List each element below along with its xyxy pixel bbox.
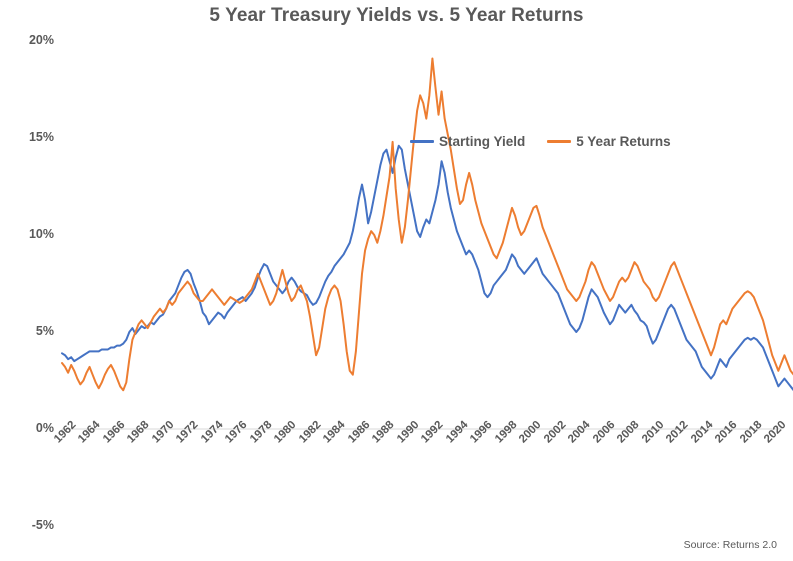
y-axis-tick-label: 0%: [2, 421, 54, 435]
legend-item-5-year-returns: 5 Year Returns: [547, 134, 670, 149]
legend-label-starting-yield: Starting Yield: [439, 134, 525, 149]
legend-swatch-starting-yield: [410, 140, 434, 143]
legend-swatch-5-year-returns: [547, 140, 571, 143]
series-line-5-year-returns: [62, 58, 793, 475]
series-layer: [62, 58, 793, 475]
y-axis-tick-label: -5%: [2, 518, 54, 532]
y-axis-tick-label: 15%: [2, 130, 54, 144]
chart-plot-area: [0, 0, 793, 561]
y-axis-tick-label: 10%: [2, 227, 54, 241]
legend-item-starting-yield: Starting Yield: [410, 134, 525, 149]
legend-label-5-year-returns: 5 Year Returns: [576, 134, 670, 149]
y-axis-tick-label: 5%: [2, 324, 54, 338]
y-axis-tick-label: 20%: [2, 33, 54, 47]
chart-container: 5 Year Treasury Yields vs. 5 Year Return…: [0, 0, 793, 561]
source-note: Source: Returns 2.0: [684, 539, 777, 551]
chart-legend: Starting Yield 5 Year Returns: [410, 134, 671, 149]
